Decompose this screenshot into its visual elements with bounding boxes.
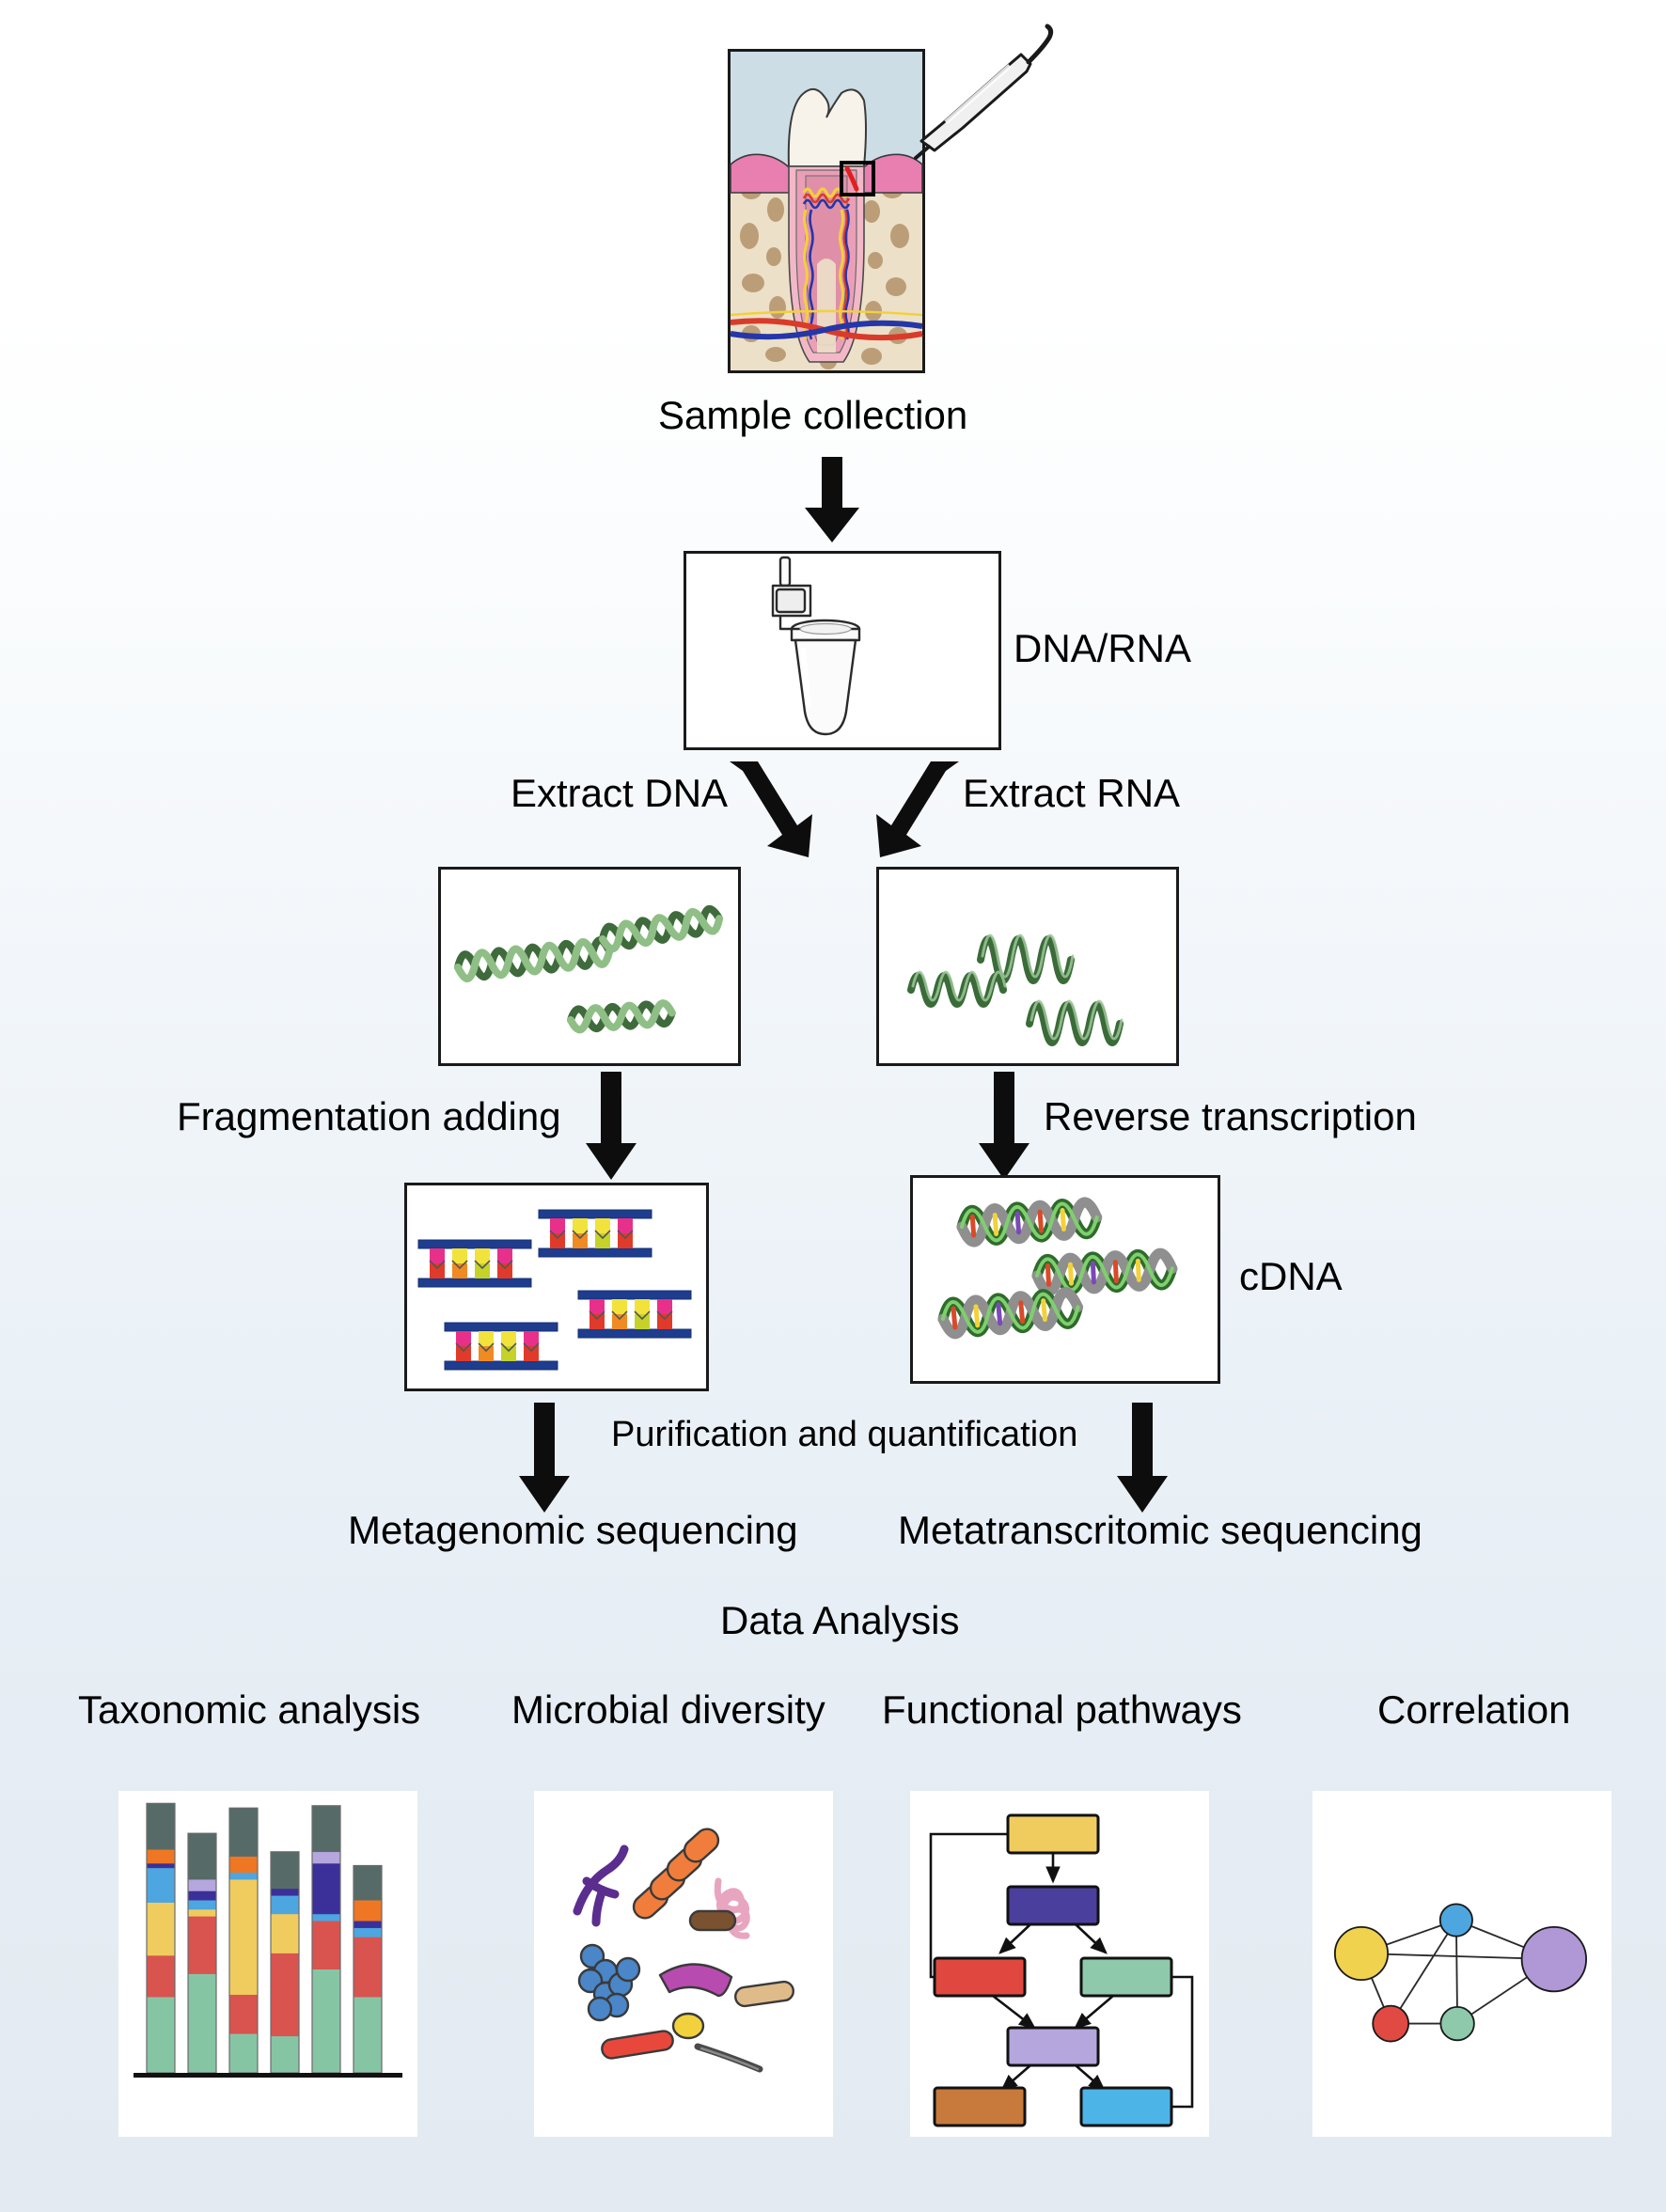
pathway-edge: [1076, 1996, 1113, 2028]
extraction-tube-image: [684, 551, 1001, 750]
data-analysis-label: Data Analysis: [720, 1598, 959, 1643]
network-graph-icon: [1312, 1791, 1611, 2137]
bar-segment: [188, 1879, 216, 1890]
dna-rna-label: DNA/RNA: [1014, 626, 1191, 671]
metatranscritomic-sequencing-label: Metatranscritomic sequencing: [898, 1508, 1422, 1553]
taxonomic-analysis-label: Taxonomic analysis: [78, 1687, 420, 1733]
rna-strands-image: [876, 867, 1179, 1066]
bacteria-icon: [534, 1791, 833, 2137]
eppendorf-tube-icon: [686, 554, 998, 747]
fragmented-library-image: [404, 1183, 709, 1391]
arrow-extract-dna: [720, 760, 824, 861]
microbial-diversity-panel: [534, 1791, 833, 2137]
bar-segment: [229, 2033, 258, 2073]
arrow-extract-rna: [865, 760, 968, 861]
pathway-node: [1081, 1958, 1171, 1996]
cdna-label: cDNA: [1239, 1254, 1343, 1299]
cdna-double-helix-icon: [913, 1178, 1218, 1381]
pathway-edge: [931, 1834, 1008, 1977]
bar-segment: [188, 1916, 216, 1973]
metagenomic-sequencing-label: Metagenomic sequencing: [348, 1508, 798, 1553]
cdna-image: [910, 1175, 1220, 1384]
bar-segment: [354, 1997, 382, 2073]
bar-segment: [354, 1866, 382, 1901]
extract-dna-label: Extract DNA: [511, 771, 728, 816]
pathway-edge: [1000, 1924, 1030, 1953]
network-node: [1522, 1927, 1586, 1991]
bar-segment: [271, 1889, 299, 1895]
bar-segment: [188, 1909, 216, 1916]
network-node: [1373, 2006, 1408, 2042]
bar-segment: [229, 1873, 258, 1879]
pathway-edge: [1076, 2065, 1104, 2090]
dna-fragment-adapter-icon: [407, 1185, 706, 1388]
bar-segment: [312, 1852, 340, 1863]
network-node: [1440, 2007, 1473, 2040]
bar-segment: [188, 1974, 216, 2073]
microbial-diversity-label: Microbial diversity: [511, 1687, 825, 1733]
bar-segment: [312, 1921, 340, 1969]
bar-segment: [354, 1937, 382, 1997]
bar-segment: [147, 1849, 175, 1863]
bar-segment: [229, 1857, 258, 1873]
bar-segment: [147, 1863, 175, 1868]
pathway-node: [1008, 1815, 1098, 1853]
pathway-node: [1081, 2088, 1171, 2126]
bar-segment: [271, 1895, 299, 1914]
taxonomic-analysis-panel: [118, 1791, 417, 2137]
bar-segment: [271, 1852, 299, 1889]
bar-segment: [229, 1808, 258, 1856]
bar-segment: [147, 1903, 175, 1955]
pathway-edge: [1002, 2065, 1030, 2090]
bar-segment: [147, 1997, 175, 2073]
functional-pathways-panel: [910, 1791, 1209, 2137]
extract-rna-label: Extract RNA: [963, 771, 1180, 816]
fragmentation-label: Fragmentation adding: [177, 1094, 561, 1139]
network-node: [1335, 1927, 1388, 1980]
pathway-node: [935, 2088, 1025, 2126]
bar-segment: [147, 1868, 175, 1903]
bar-segment: [188, 1833, 216, 1879]
stacked-bar-chart-icon: [118, 1791, 417, 2137]
bar-segment: [312, 1863, 340, 1914]
bar-segment: [147, 1803, 175, 1849]
arrow-sample-to-tube: [801, 457, 863, 543]
arrow-reverse-transcription: [976, 1072, 1032, 1181]
bar-segment: [271, 1953, 299, 2036]
bar-segment: [354, 1928, 382, 1937]
bar-segment: [354, 1900, 382, 1921]
pathway-node: [935, 1958, 1025, 1996]
dna-double-helix-icon: [441, 870, 738, 1063]
dna-strands-image: [438, 867, 741, 1066]
correlation-label: Correlation: [1377, 1687, 1570, 1733]
purification-label: Purification and quantification: [611, 1415, 1077, 1455]
correlation-panel: [1312, 1791, 1611, 2137]
bar-segment: [229, 1995, 258, 2034]
sample-collection-label: Sample collection: [658, 393, 967, 438]
pathway-edge: [993, 1996, 1034, 2028]
pathway-flowchart-icon: [910, 1791, 1209, 2137]
bar-segment: [312, 1969, 340, 2073]
functional-pathways-label: Functional pathways: [882, 1687, 1242, 1733]
arrow-metatranscritomic: [1114, 1403, 1171, 1514]
bar-segment: [188, 1890, 216, 1900]
pathway-node: [1008, 1887, 1098, 1924]
periodontal-probe-icon: [888, 24, 1066, 156]
bar-segment: [312, 1914, 340, 1921]
reverse-transcription-label: Reverse transcription: [1044, 1094, 1417, 1139]
bar-segment: [271, 2036, 299, 2073]
bar-segment: [147, 1955, 175, 1997]
arrow-fragmentation: [583, 1072, 639, 1181]
bar-segment: [354, 1921, 382, 1927]
bar-segment: [271, 1914, 299, 1953]
bar-segment: [188, 1900, 216, 1909]
x-axis: [134, 2073, 402, 2078]
bar-segment: [229, 1879, 258, 1995]
rna-single-strand-icon: [879, 870, 1176, 1063]
pathway-node: [1008, 2028, 1098, 2065]
bar-segment: [312, 1806, 340, 1852]
pathway-edge: [1076, 1924, 1106, 1953]
network-node: [1440, 1904, 1472, 1936]
arrow-metagenomic: [516, 1403, 573, 1514]
